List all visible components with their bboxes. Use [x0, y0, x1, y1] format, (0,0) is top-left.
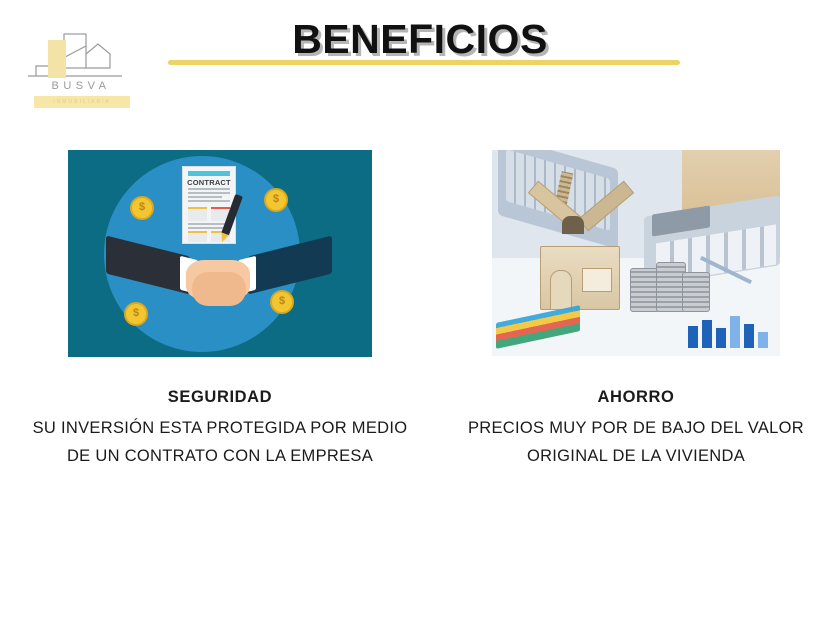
benefit-body: PRECIOS MUY POR DE BAJO DEL VALOR ORIGIN… — [452, 414, 820, 470]
benefit-caption-seguridad: SEGURIDAD SU INVERSIÓN ESTA PROTEGIDA PO… — [28, 388, 412, 470]
coin-icon: $ — [124, 302, 148, 326]
bar-chart-bar — [702, 320, 712, 348]
benefit-card-seguridad: CONTRACT $ $ $ $ — [68, 150, 372, 357]
bar-chart-bar — [744, 324, 754, 348]
house-attic-window — [562, 216, 584, 234]
benefit-caption-ahorro: AHORRO PRECIOS MUY POR DE BAJO DEL VALOR… — [452, 388, 820, 470]
handshake-fingers — [192, 272, 246, 306]
bar-chart-bar — [758, 332, 768, 348]
logo-wordmark: BUSVA — [22, 80, 140, 92]
benefit-heading: AHORRO — [452, 388, 820, 407]
benefit-card-ahorro — [492, 150, 780, 356]
coin-icon: $ — [264, 188, 288, 212]
handshake-contract-illustration: CONTRACT $ $ $ $ — [68, 150, 372, 357]
page-title: BENEFICIOS — [0, 16, 840, 63]
coin-icon: $ — [270, 290, 294, 314]
house-coins-calculator-photo — [492, 150, 780, 356]
logo-tagline: INMOBILIARIA — [34, 96, 130, 108]
house-window — [582, 268, 612, 292]
benefit-heading: SEGURIDAD — [28, 388, 412, 407]
house-door — [550, 270, 572, 310]
benefit-body: SU INVERSIÓN ESTA PROTEGIDA POR MEDIO DE… — [28, 414, 412, 470]
bar-chart-bar — [730, 316, 740, 348]
coin-icon: $ — [130, 196, 154, 220]
coin-stack — [682, 272, 710, 312]
bar-chart-bar — [688, 326, 698, 348]
contract-header-bar — [188, 171, 230, 176]
contract-label: CONTRACT — [183, 178, 235, 187]
bar-chart-bar — [716, 328, 726, 348]
title-underline-rule — [168, 60, 680, 65]
